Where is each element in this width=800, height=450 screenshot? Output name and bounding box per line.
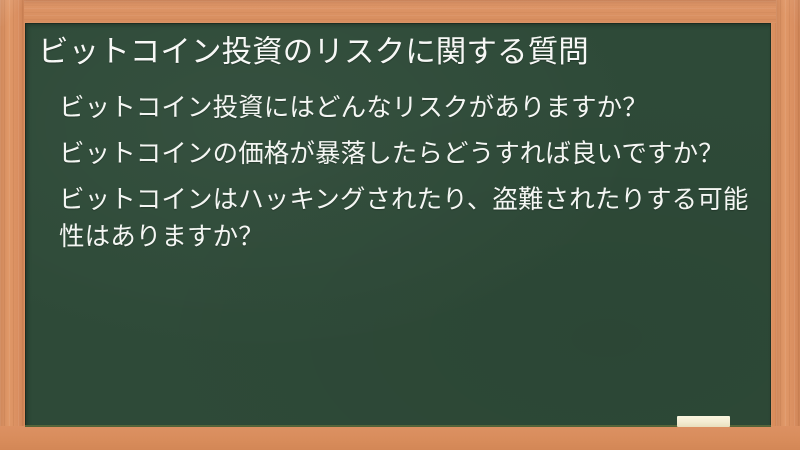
frame-stile-left bbox=[0, 0, 24, 450]
frame-rail-top bbox=[0, 0, 800, 23]
question-list: ビットコイン投資にはどんなリスクがありますか？ ビットコインの価格が暴落したらど… bbox=[38, 90, 749, 256]
question-item-3: ビットコインはハッキングされたり、盗難されたりする可能性はありますか？ bbox=[59, 182, 749, 256]
frame-stile-right bbox=[776, 0, 800, 450]
slide-content: ビットコイン投資のリスクに関する質問 ビットコイン投資にはどんなリスクがあります… bbox=[25, 23, 771, 256]
chalk-stick bbox=[677, 416, 730, 427]
question-item-2: ビットコインの価格が暴落したらどうすれば良いですか？ bbox=[59, 136, 749, 173]
board-bottom-seam bbox=[25, 425, 771, 427]
chalkboard-surface: ビットコイン投資のリスクに関する質問 ビットコイン投資にはどんなリスクがあります… bbox=[25, 23, 771, 427]
frame-ledge-bottom bbox=[0, 426, 800, 450]
wooden-frame: ビットコイン投資のリスクに関する質問 ビットコイン投資にはどんなリスクがあります… bbox=[0, 0, 800, 450]
question-item-1: ビットコイン投資にはどんなリスクがありますか？ bbox=[59, 90, 749, 127]
slide-title: ビットコイン投資のリスクに関する質問 bbox=[38, 32, 749, 73]
